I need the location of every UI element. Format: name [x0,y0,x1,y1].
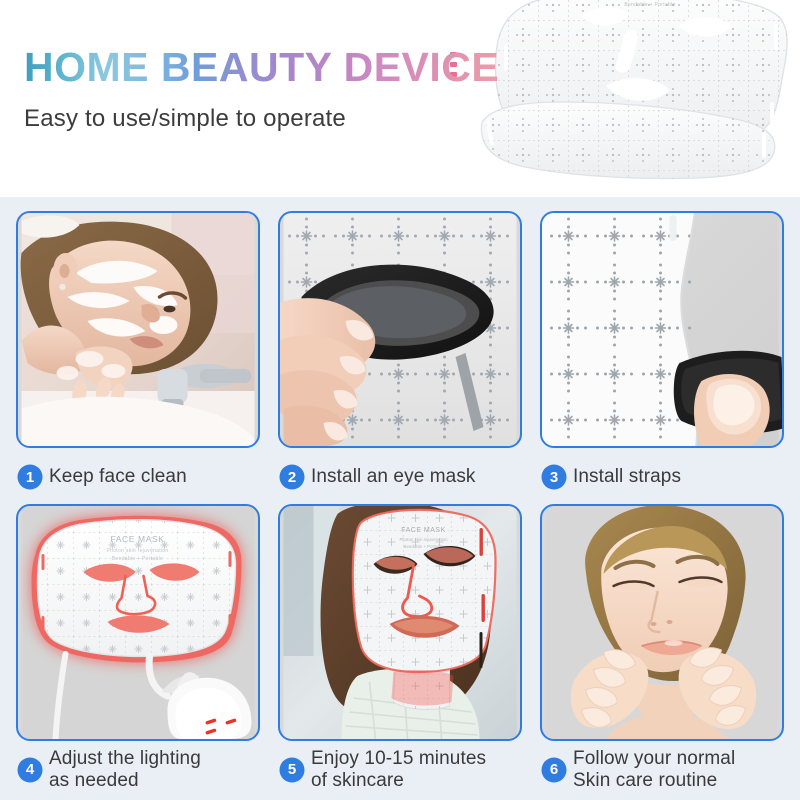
step-badge-3: 3 [542,465,566,489]
step-text-5-line2: of skincare [311,770,486,792]
worn-face-mask: FACE MASK Photon skin rejuvenation Benda… [353,509,496,671]
step-card-2: 2 Install an eye mask [272,211,528,502]
page-title: HOME BEAUTY DEVICE [24,47,499,88]
header-banner: Photon skin rejuvenation Bendable + Port… [0,0,800,197]
step-badge-5: 5 [280,758,304,782]
step-photo-4: FACE MASK Photon skin rejuvenation Benda… [16,504,260,741]
page-subtitle: Easy to use/simple to operate [24,105,346,133]
step-photo-2 [278,211,522,448]
svg-text:Bendable + Portable: Bendable + Portable [112,556,163,562]
step-text-2-line1: Install an eye mask [311,466,476,487]
step-photo-3 [540,211,784,448]
step-card-5: FACE MASK Photon skin rejuvenation Benda… [272,504,528,795]
step-caption-6: 6 Follow your normal Skin care routine [542,747,786,793]
step-badge-1: 1 [18,465,42,489]
step-text-6: Follow your normal Skin care routine [573,748,735,791]
step-text-4: Adjust the lighting as needed [49,748,201,791]
step-text-3-line1: Install straps [573,466,681,487]
step-card-1: 1 Keep face clean [10,211,266,502]
step-text-1: Keep face clean [49,466,187,488]
step-card-6: 6 Follow your normal Skin care routine [534,504,790,795]
svg-text:Photon skin rejuvenation: Photon skin rejuvenation [107,548,169,554]
step-text-5: Enjoy 10-15 minutes of skincare [311,748,486,791]
mask-sheet-lit: FACE MASK Photon skin rejuvenation Benda… [38,519,236,656]
step-caption-3: 3 Install straps [542,454,786,500]
step-photo-6 [540,504,784,741]
step-text-6-line1: Follow your normal [573,748,735,769]
step-text-4-line2: as needed [49,770,201,792]
infographic-page: Photon skin rejuvenation Bendable + Port… [0,0,800,800]
step-badge-4: 4 [18,758,42,782]
step-photo-5: FACE MASK Photon skin rejuvenation Benda… [278,504,522,741]
product-hero-image: Photon skin rejuvenation Bendable + Port… [478,0,800,190]
step-caption-5: 5 Enjoy 10-15 minutes of skincare [280,747,524,793]
step-text-1-line1: Keep face clean [49,466,187,487]
step-badge-6: 6 [542,758,566,782]
step-card-3: 3 Install straps [534,211,790,502]
product-brand-text: FACE MASK [110,534,164,544]
step-text-4-line1: Adjust the lighting [49,748,201,769]
step-badge-2: 2 [280,465,304,489]
svg-text:Photon skin rejuvenation: Photon skin rejuvenation [399,537,448,542]
step-caption-1: 1 Keep face clean [18,454,262,500]
svg-text:Bendable + Portable: Bendable + Portable [624,2,675,8]
step-text-3: Install straps [573,466,681,488]
svg-text:FACE MASK: FACE MASK [401,527,446,534]
step-caption-4: 4 Adjust the lighting as needed [18,747,262,793]
step-text-6-line2: Skin care routine [573,770,735,792]
steps-section: 1 Keep face clean [0,197,800,800]
step-text-2: Install an eye mask [311,466,476,488]
step-text-5-line1: Enjoy 10-15 minutes [311,748,486,769]
finger [694,374,770,446]
step-card-4: FACE MASK Photon skin rejuvenation Benda… [10,504,266,795]
step-caption-2: 2 Install an eye mask [280,454,524,500]
step-photo-1 [16,211,260,448]
steps-grid: 1 Keep face clean [0,197,800,800]
